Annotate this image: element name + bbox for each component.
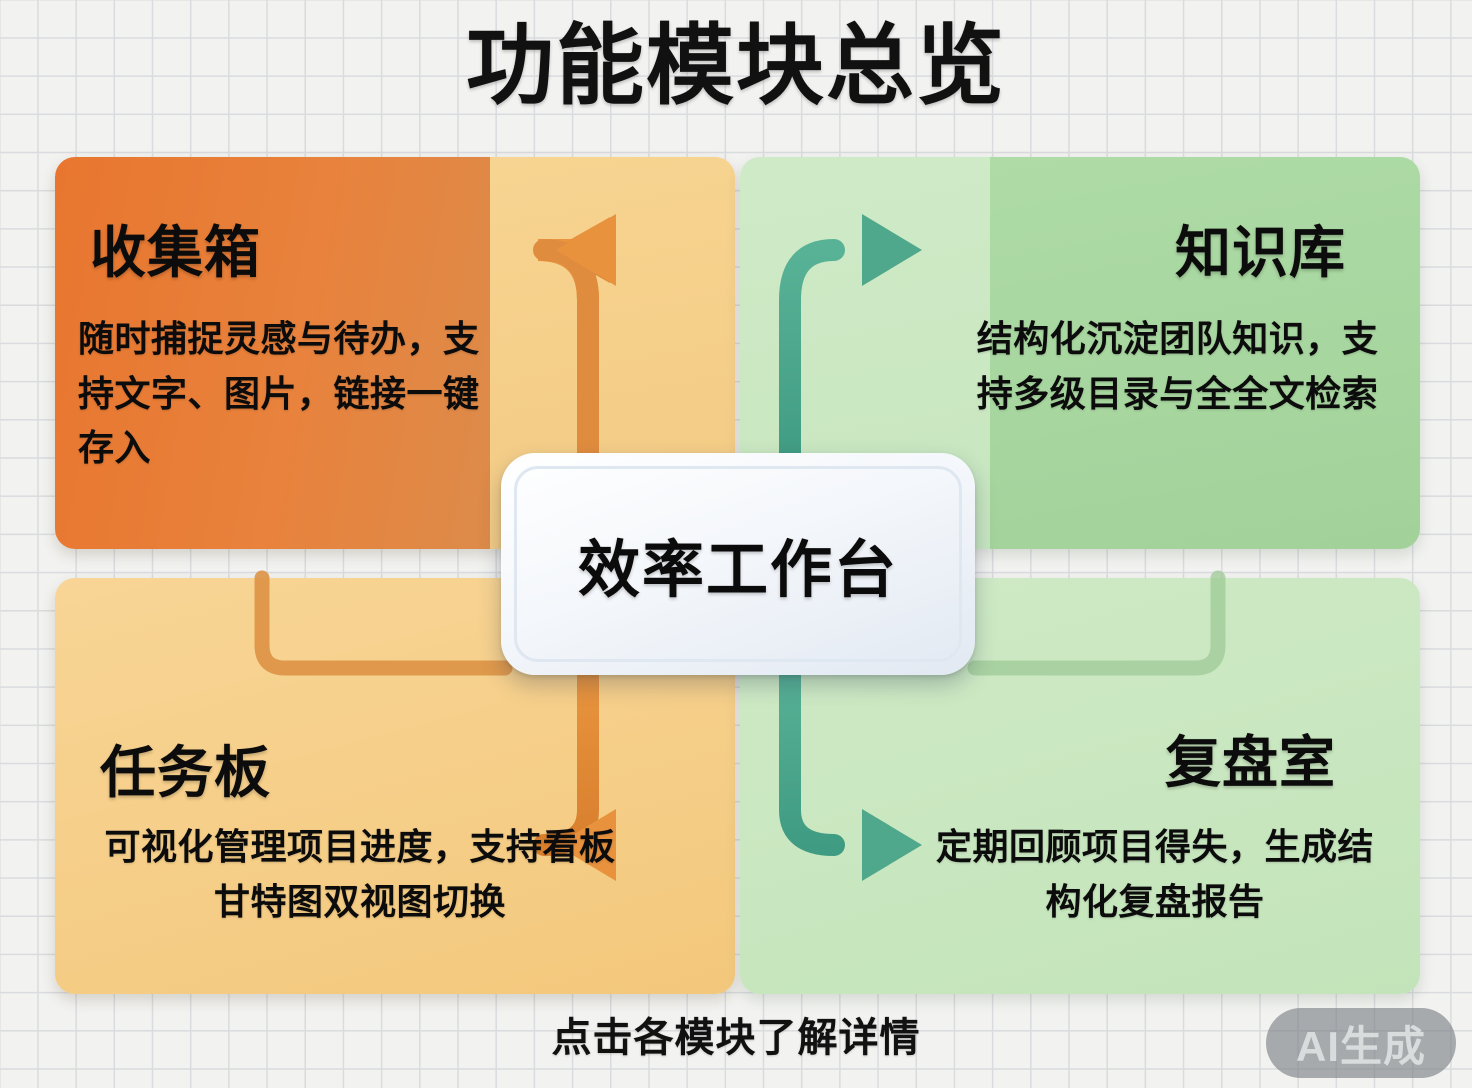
- module-description-review: 定期回顾项目得失，生成结构化复盘报告: [930, 820, 1380, 929]
- page-title: 功能模块总览: [0, 18, 1472, 113]
- module-title-inbox: 收集箱: [90, 208, 261, 289]
- footer-hint: 点击各模块了解详情: [0, 1005, 1472, 1063]
- module-title-review: 复盘室: [1165, 718, 1336, 799]
- module-description-knowledge: 结构化沉淀团队知识，支持多级目录与全全文检索: [965, 312, 1390, 421]
- module-description-inbox: 随时捕捉灵感与待办，支持文字、图片，链接一键存入: [78, 312, 488, 476]
- center-hub-label: 效率工作台: [578, 519, 898, 609]
- module-title-knowledge: 知识库: [1175, 208, 1346, 289]
- ai-watermark-label: AI生成: [1296, 1013, 1426, 1074]
- center-hub-node[interactable]: 效率工作台: [501, 453, 975, 675]
- module-title-tasks: 任务板: [100, 728, 271, 809]
- module-overview-diagram: 收集箱 随时捕捉灵感与待办，支持文字、图片，链接一键存入 知识库 结构化沉淀团队…: [0, 0, 1472, 1088]
- module-description-tasks: 可视化管理项目进度，支持看板甘特图双视图切换: [90, 820, 630, 929]
- ai-generated-watermark: AI生成: [1266, 1008, 1456, 1078]
